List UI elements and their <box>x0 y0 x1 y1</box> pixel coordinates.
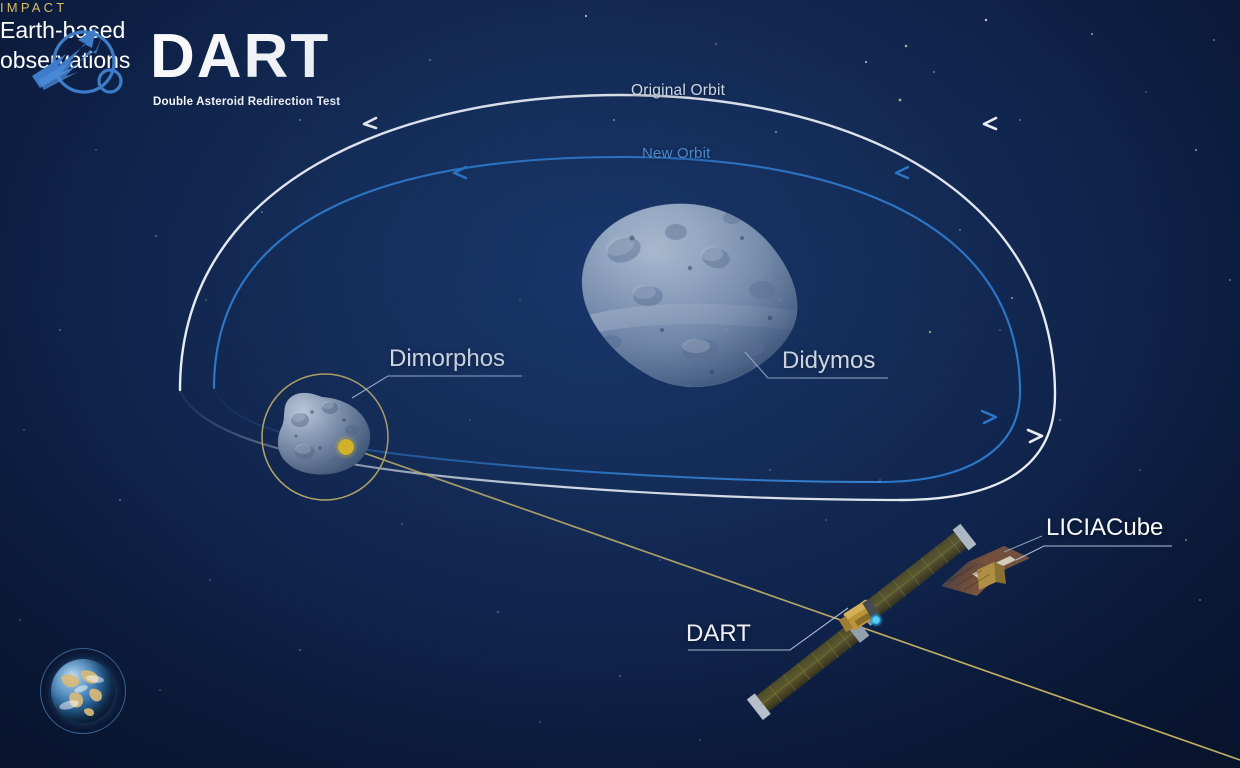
original-orbit-label: Original Orbit <box>631 82 725 100</box>
leader-line-dimorphos <box>352 376 522 398</box>
dart-mission-diagram: DART Double Asteroid Redirection Test Or… <box>0 0 1240 768</box>
dart-logo: DART Double Asteroid Redirection Test <box>22 20 322 106</box>
dart-label: DART <box>686 620 751 648</box>
leader-line-liciacube <box>1016 546 1172 560</box>
earth-globe-icon <box>51 659 115 723</box>
dart-spacecraft-logo-icon <box>22 24 140 102</box>
liciacube-label: LICIACube <box>1046 514 1163 542</box>
new-orbit-label: New Orbit <box>642 145 710 162</box>
didymos-label: Didymos <box>782 347 875 375</box>
logo-wordmark: DART <box>150 26 330 88</box>
earth-observations-group <box>40 648 126 734</box>
dimorphos-label: Dimorphos <box>389 345 505 373</box>
logo-subtitle: Double Asteroid Redirection Test <box>153 96 340 108</box>
leader-lines <box>0 0 1240 768</box>
